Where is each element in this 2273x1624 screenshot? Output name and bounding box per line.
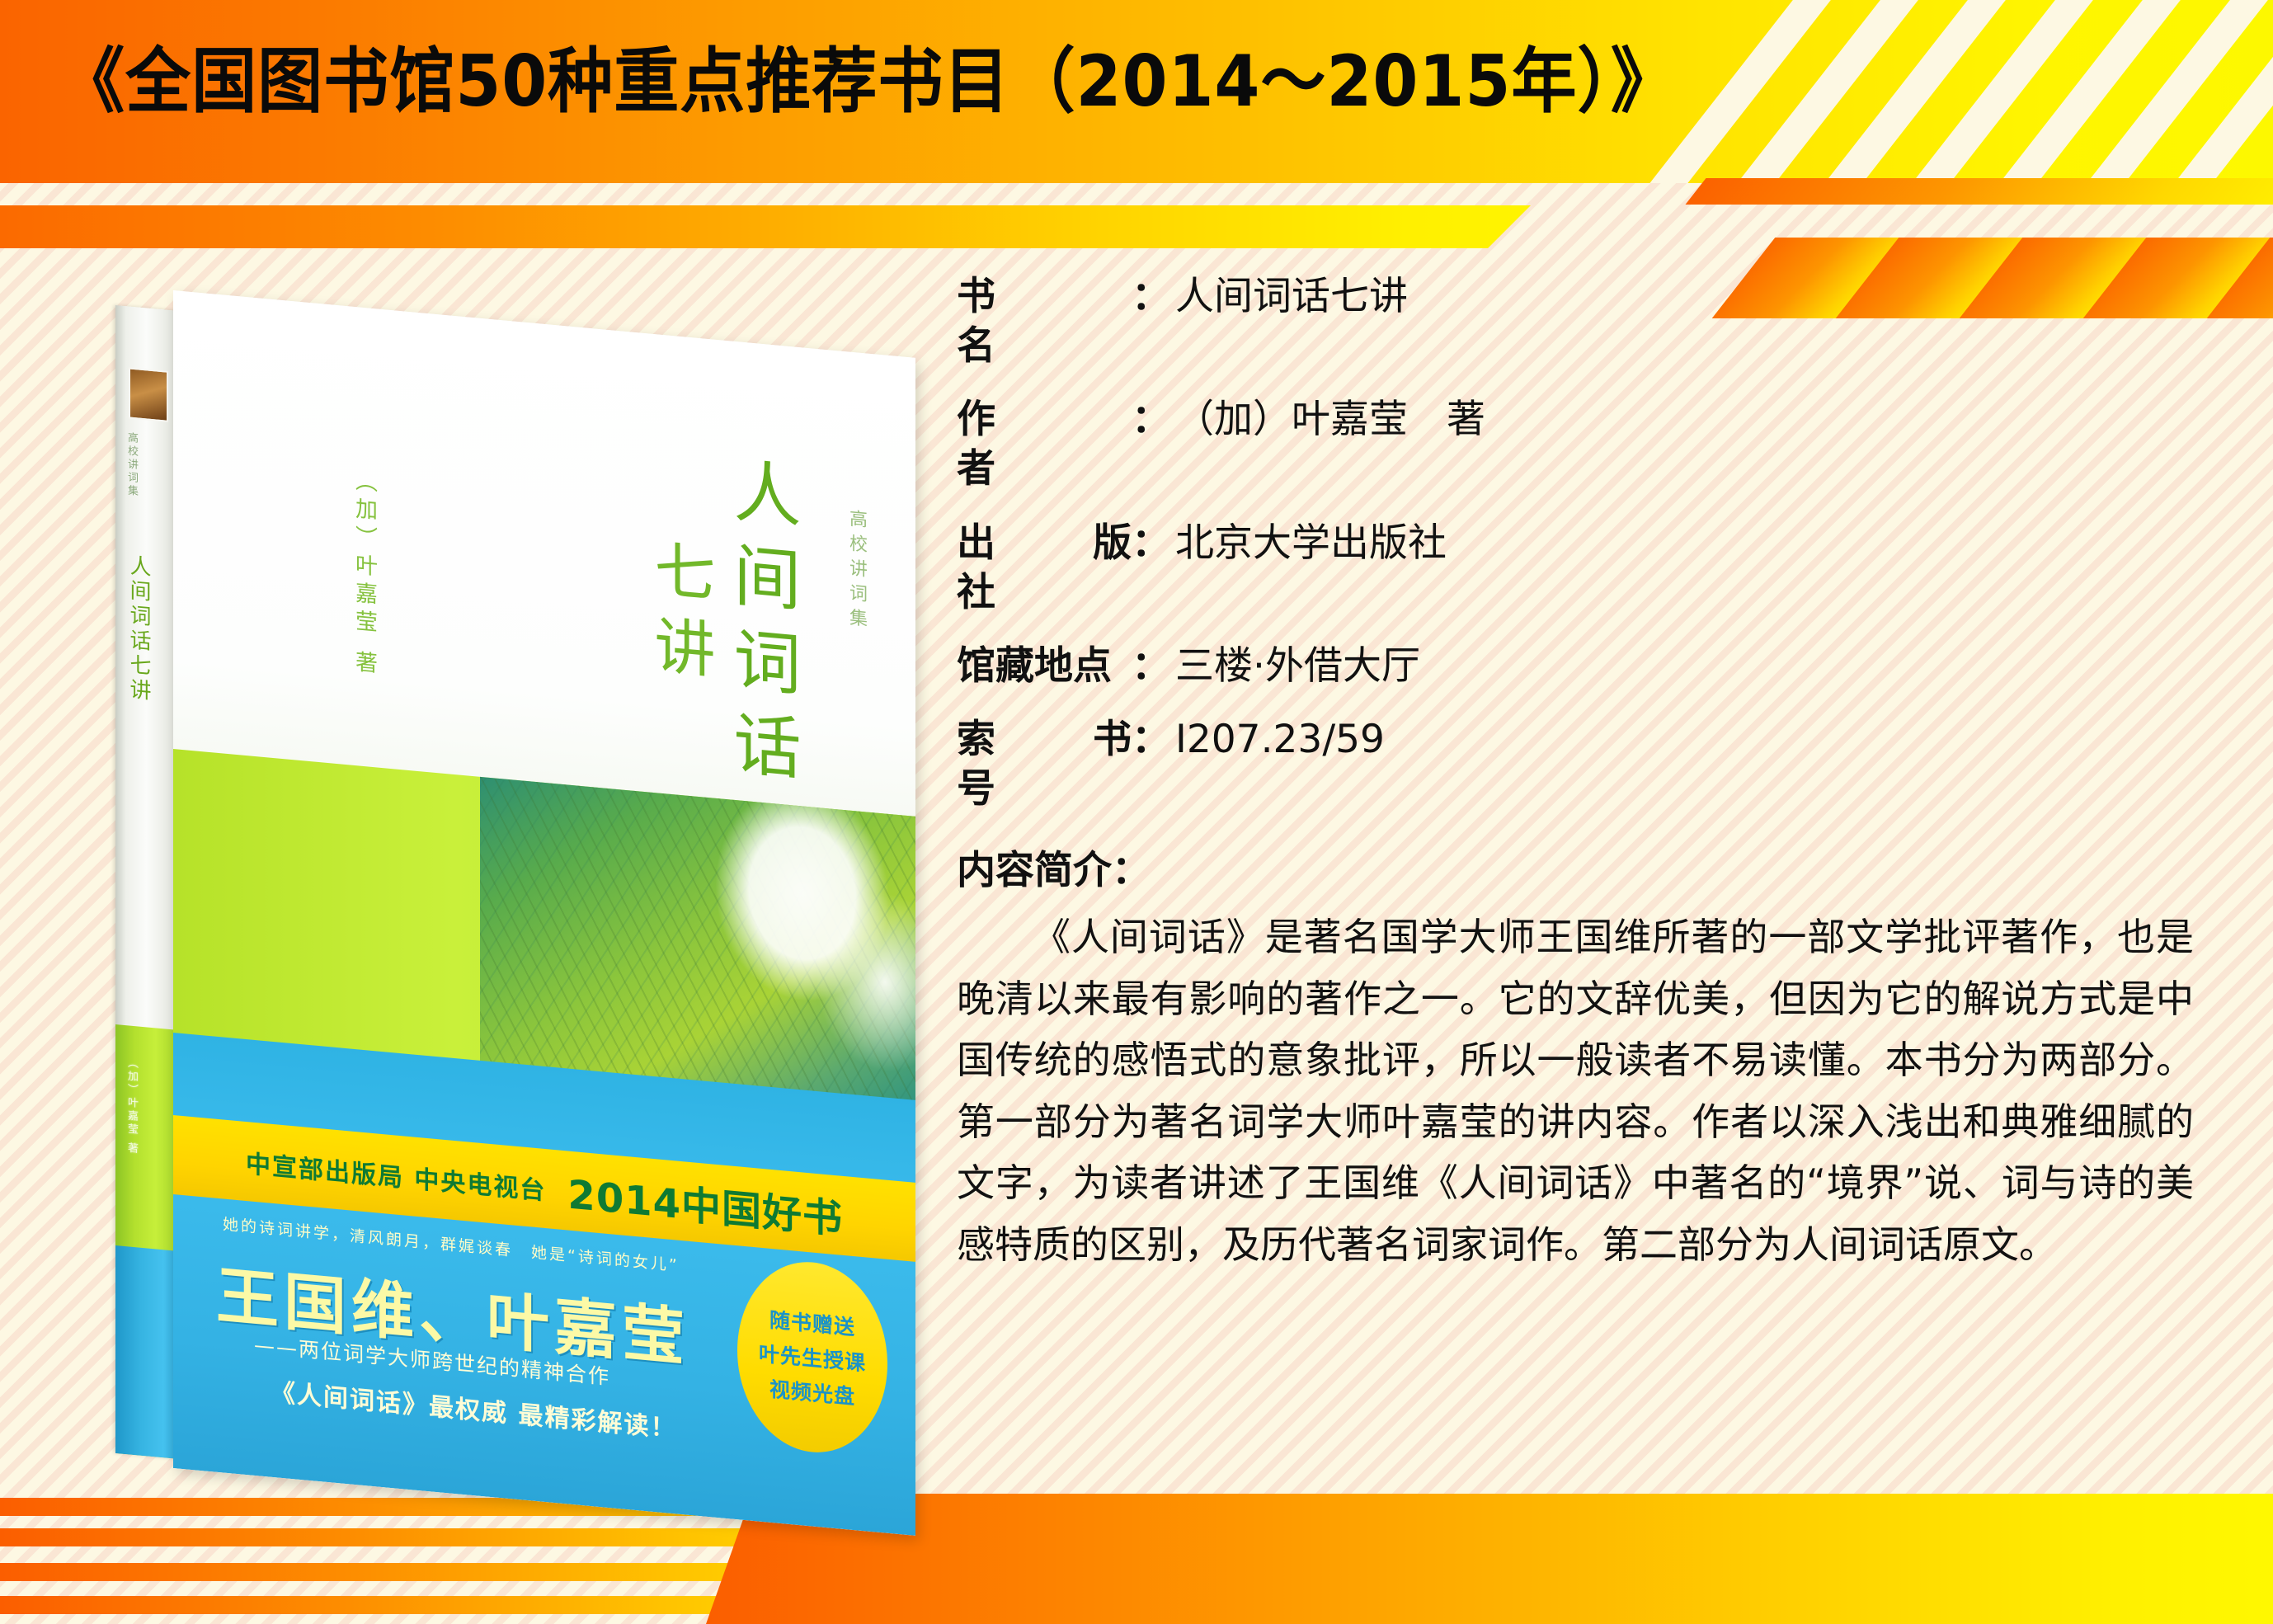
spine-title-text: 人间词话七讲 <box>124 553 154 704</box>
meta-value-author: （加）叶嘉莹 著 <box>1175 395 1485 445</box>
gift-badge-line-3: 视频光盘 <box>769 1373 855 1410</box>
cover-leaf-flower-photo <box>480 777 915 1107</box>
meta-row-author: 作 者 ： （加）叶嘉莹 著 <box>957 395 2210 494</box>
meta-colon-title: ： <box>1132 272 1170 322</box>
publisher-logo-icon <box>129 367 168 421</box>
book-details-panel: 书 名 ： 人间词话七讲 作 者 ： （加）叶嘉莹 著 出 版 社 ： 北京大学… <box>957 272 2210 1276</box>
meta-row-publisher: 出 版 社 ： 北京大学出版社 <box>957 519 2210 618</box>
book-front-cover: 人间词话 七讲 高校讲词集 （加）叶嘉莹 著 中宣部出版局 中央电视台 2014… <box>173 290 915 1536</box>
book-spine: 高校讲词集 人间词话七讲 （加）叶嘉莹 著 <box>115 305 180 1459</box>
intro-paragraph: 《人间词话》是著名国学大师王国维所著的一部文学批评著作，也是晚清以来最有影响的著… <box>957 906 2194 1275</box>
meta-label-location: 馆藏地点 <box>957 642 1132 691</box>
meta-colon-location: ： <box>1132 642 1170 691</box>
meta-label-callnumber: 索 书 号 <box>957 715 1132 814</box>
meta-row-callnumber: 索 书 号 ： I207.23/59 <box>957 715 2210 814</box>
meta-value-callnumber: I207.23/59 <box>1175 715 1385 765</box>
cover-title-main: 人间词话 <box>712 453 810 798</box>
meta-colon-callnumber: ： <box>1132 715 1170 765</box>
page-title: 《全国图书馆50种重点推荐书目（2014～2015年）》 <box>59 41 1677 123</box>
cover-author-text: （加）叶嘉莹 著 <box>348 468 380 680</box>
bottom-parallelogram <box>706 1494 2273 1624</box>
spine-author-text: （加）叶嘉莹 著 <box>124 1057 139 1156</box>
gift-badge-line-2: 叶先生授课 <box>759 1338 866 1377</box>
header-accent-bar <box>1685 178 2273 205</box>
cover-title-sub: 七讲 <box>636 535 724 695</box>
meta-label-author: 作 者 <box>957 395 1132 494</box>
meta-value-title: 人间词话七讲 <box>1175 272 1408 322</box>
meta-row-location: 馆藏地点 ： 三楼·外借大厅 <box>957 642 2210 691</box>
cover-series-text: 高校讲词集 <box>843 508 869 634</box>
award-issuer-text: 中宣部出版局 中央电视台 <box>246 1143 546 1207</box>
meta-colon-author: ： <box>1132 395 1170 445</box>
book-cover-image: 高校讲词集 人间词话七讲 （加）叶嘉莹 著 人间词话 七讲 高校讲词集 （加）叶… <box>115 290 915 1468</box>
spine-blue-section <box>115 1245 180 1459</box>
meta-value-location: 三楼·外借大厅 <box>1175 642 1420 691</box>
meta-colon-publisher: ： <box>1132 519 1170 568</box>
award-name-text: 2014中国好书 <box>567 1162 843 1245</box>
meta-label-publisher: 出 版 社 <box>957 519 1132 618</box>
meta-value-publisher: 北京大学出版社 <box>1175 519 1447 568</box>
gift-badge-line-1: 随书赠送 <box>769 1304 855 1341</box>
meta-row-title: 书 名 ： 人间词话七讲 <box>957 272 2210 371</box>
header-underline-bar <box>0 205 1531 248</box>
header-banner: 《全国图书馆50种重点推荐书目（2014～2015年）》 <box>0 0 2273 183</box>
spine-series-text: 高校讲词集 <box>124 431 139 499</box>
meta-label-title: 书 名 <box>957 272 1132 371</box>
intro-heading: 内容简介： <box>957 838 2210 895</box>
